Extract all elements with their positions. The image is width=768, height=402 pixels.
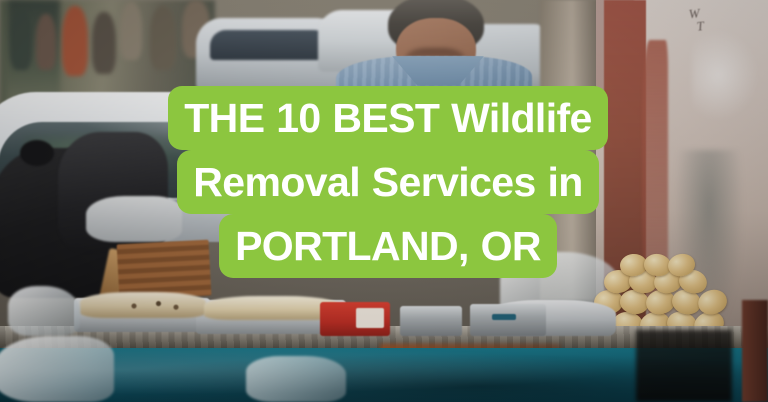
counter-shadow	[636, 330, 732, 402]
red-container	[320, 302, 390, 336]
steel-bin	[470, 304, 546, 336]
plastic-bag	[0, 336, 114, 402]
pedestrian	[92, 12, 116, 74]
steel-bin	[400, 306, 462, 336]
motorcycle-mirror	[20, 140, 54, 166]
title-overlay: THE 10 BEST WildlifeRemoval Services inP…	[112, 86, 664, 278]
title-line-3: PORTLAND, OR	[219, 214, 557, 278]
pedestrian	[10, 8, 32, 70]
page-title: THE 10 BEST WildlifeRemoval Services inP…	[112, 86, 664, 278]
pedestrian	[120, 2, 142, 60]
graffiti-marks: W T	[688, 1, 758, 48]
food-crumbs	[120, 300, 190, 312]
plastic-bag	[246, 356, 346, 402]
plastic-bag	[8, 286, 80, 336]
stall-post	[742, 300, 768, 402]
title-line-1: THE 10 BEST Wildlife	[168, 86, 608, 150]
pedestrian	[150, 6, 176, 70]
banner-canvas: W T THE 10 BEST WildlifeRemov	[0, 0, 768, 402]
pedestrian	[36, 14, 56, 70]
title-line-2: Removal Services in	[177, 150, 598, 214]
pedestrian	[62, 6, 88, 76]
